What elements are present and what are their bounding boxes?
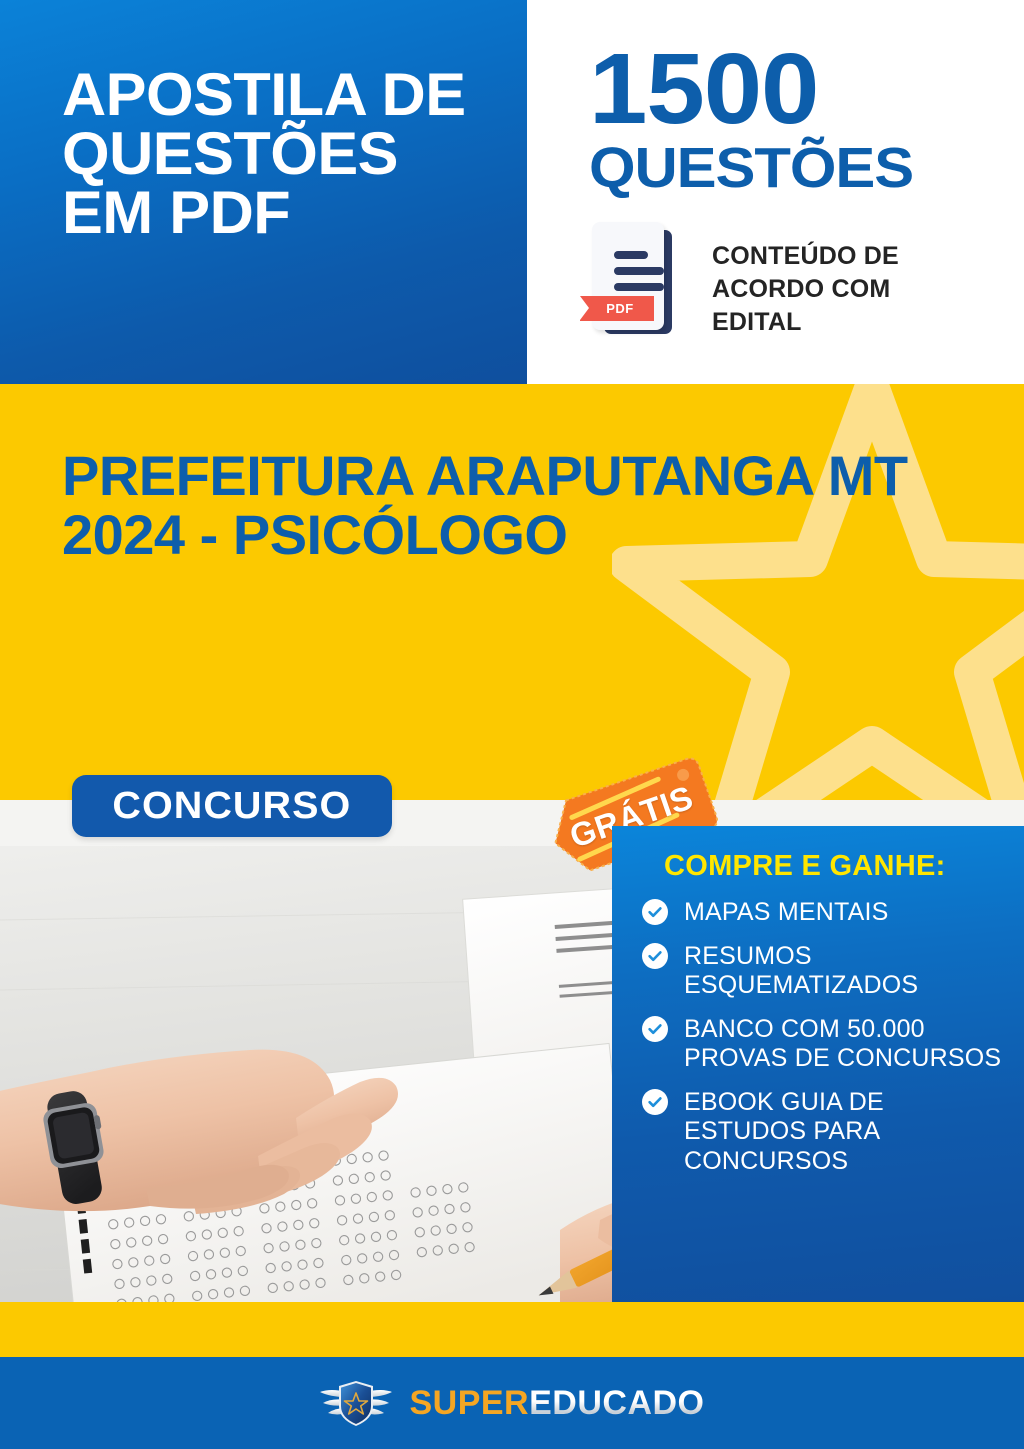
pdf-document-icon: PDF [582, 218, 692, 340]
header-left-panel: APOSTILA DE QUESTÕES EM PDF [0, 0, 527, 384]
header-right-panel: 1500 QUESTÕES PDF CONTEÚDO DE ACORDO COM… [527, 0, 1024, 384]
winged-shield-icon [319, 1378, 393, 1428]
benefit-label: RESUMOS ESQUEMATIZADOS [684, 941, 1006, 1001]
apostila-line-1: APOSTILA DE [62, 66, 521, 125]
edital-note: CONTEÚDO DE ACORDO COM EDITAL [712, 240, 1002, 339]
brand-word-educado: EDUCADO [529, 1384, 704, 1422]
brand-wordmark: SUPEREDUCADO [409, 1384, 704, 1423]
brand-logo: SUPEREDUCADO [0, 1357, 1024, 1449]
yellow-divider-strip [0, 1302, 1024, 1357]
pdf-icon-line [614, 251, 648, 259]
brand-word-super: SUPER [409, 1384, 529, 1422]
benefits-title: COMPRE E GANHE: [664, 850, 1006, 883]
header-section: APOSTILA DE QUESTÕES EM PDF 1500 QUESTÕE… [0, 0, 1024, 384]
edital-line-2: ACORDO COM [712, 273, 1002, 306]
check-icon [642, 899, 668, 925]
question-count-label: QUESTÕES [589, 140, 913, 197]
check-icon [642, 943, 668, 969]
benefit-item: BANCO COM 50.000 PROVAS DE CONCURSOS [642, 1014, 1006, 1074]
benefit-item: MAPAS MENTAIS [642, 897, 1006, 928]
benefits-panel: COMPRE E GANHE: MAPAS MENTAIS RESUMOS ES… [612, 826, 1024, 1302]
concurso-label: CONCURSO [113, 785, 352, 828]
apostila-line-3: EM PDF [62, 184, 521, 243]
question-count: 1500 [589, 42, 818, 137]
pdf-ribbon-label: PDF [600, 301, 634, 316]
apostila-line-2: QUESTÕES [62, 125, 521, 184]
benefit-item: EBOOK GUIA DE ESTUDOS PARA CONCURSOS [642, 1087, 1006, 1177]
benefit-label: MAPAS MENTAIS [684, 897, 888, 928]
course-title: PREFEITURA ARAPUTANGA MT 2024 - PSICÓLOG… [62, 446, 932, 565]
check-icon [642, 1089, 668, 1115]
benefit-item: RESUMOS ESQUEMATIZADOS [642, 941, 1006, 1001]
pdf-ribbon: PDF [580, 296, 654, 321]
edital-line-1: CONTEÚDO DE [712, 240, 1002, 273]
apostila-headline: APOSTILA DE QUESTÕES EM PDF [62, 66, 521, 242]
pdf-icon-line [614, 267, 664, 275]
course-title-section: PREFEITURA ARAPUTANGA MT 2024 - PSICÓLOG… [0, 384, 1024, 800]
check-icon [642, 1016, 668, 1042]
pdf-icon-line [614, 283, 664, 291]
benefit-label: BANCO COM 50.000 PROVAS DE CONCURSOS [684, 1014, 1006, 1074]
poster-root: APOSTILA DE QUESTÕES EM PDF 1500 QUESTÕE… [0, 0, 1024, 1449]
concurso-badge[interactable]: CONCURSO [72, 775, 392, 837]
benefit-label: EBOOK GUIA DE ESTUDOS PARA CONCURSOS [684, 1087, 1006, 1177]
edital-line-3: EDITAL [712, 306, 1002, 339]
